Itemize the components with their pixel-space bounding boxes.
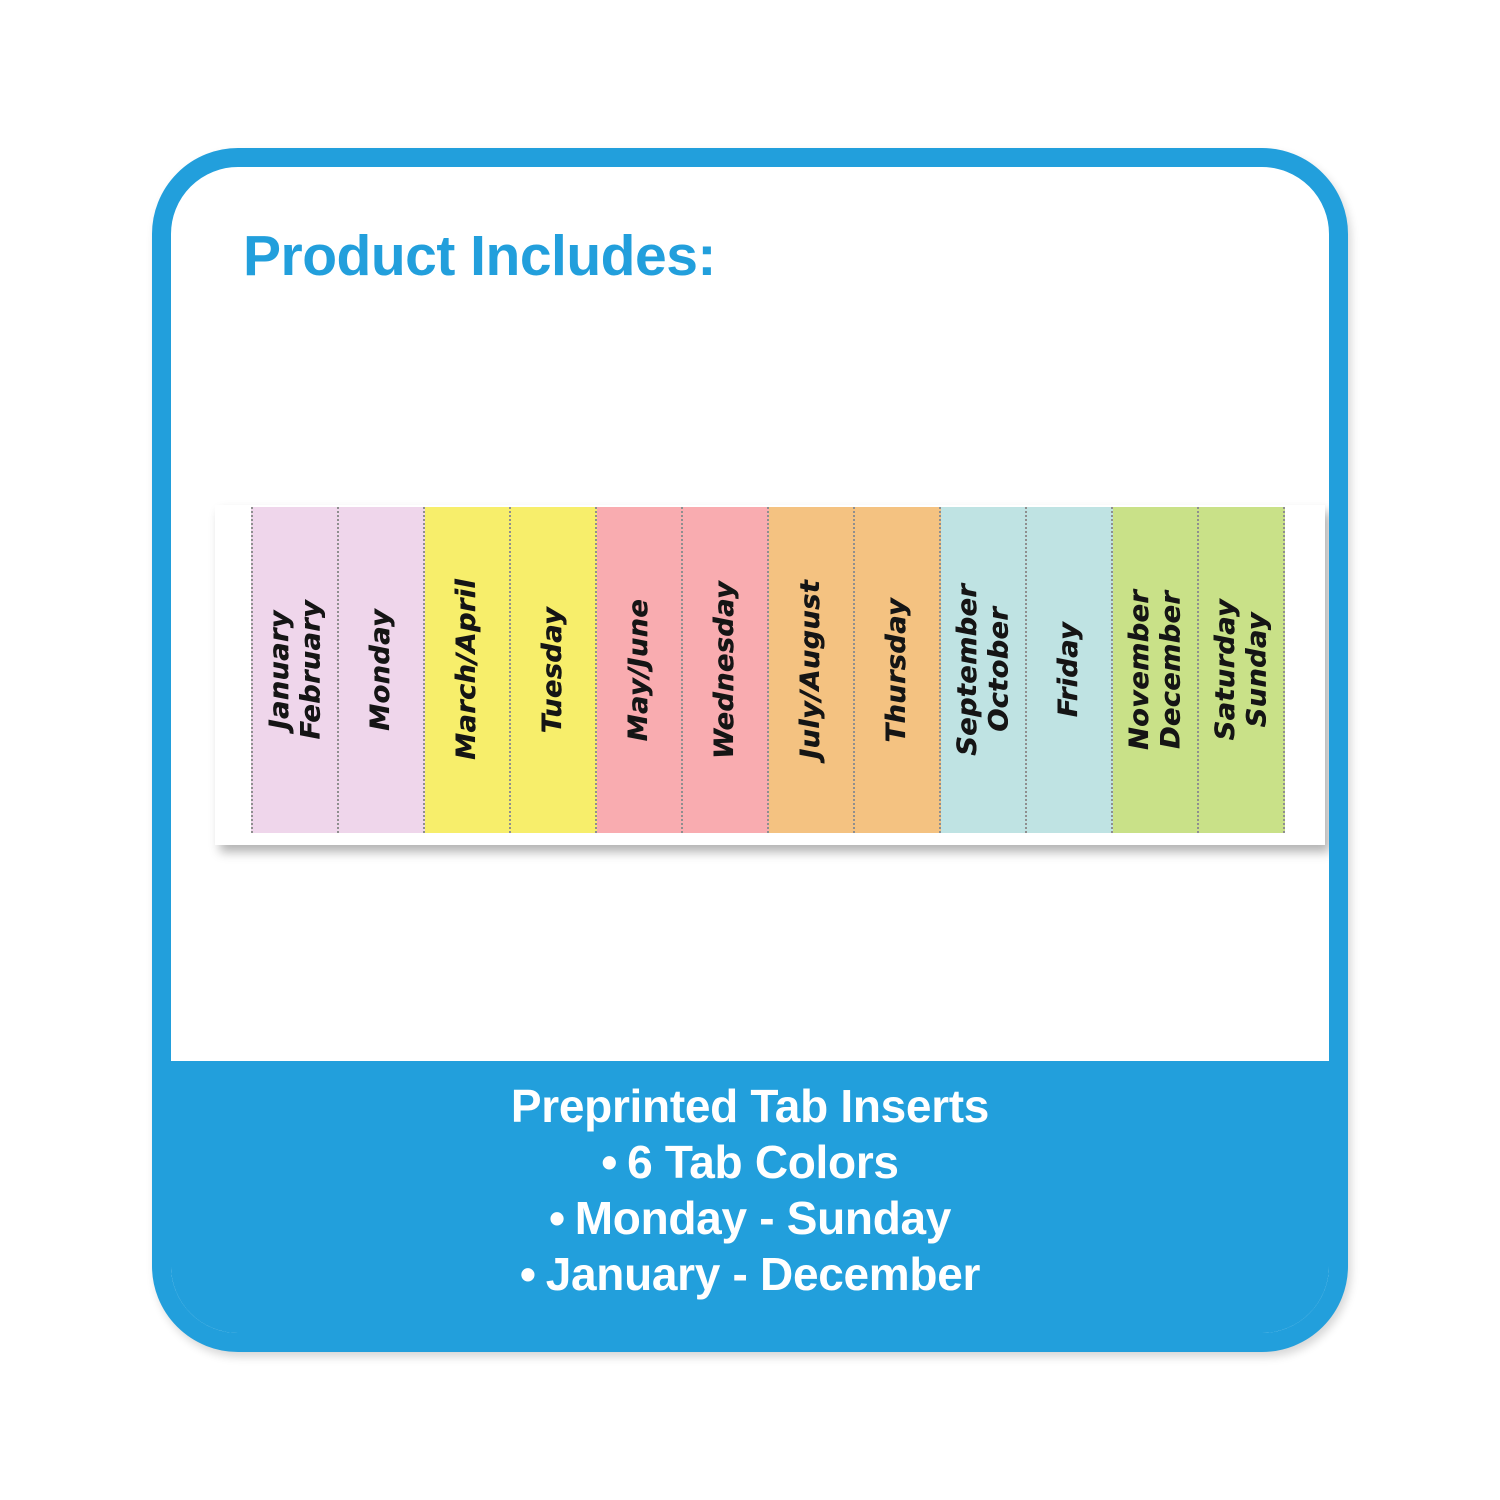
tab-may-june: May/June [597,507,683,833]
tab-monday: Monday [339,507,425,833]
footer-bullet-item: •Monday - Sunday [520,1190,980,1246]
tab-label: Wednesday [709,581,740,759]
tab-tuesday: Tuesday [511,507,597,833]
page-title: Product Includes: [243,223,716,289]
footer-feature-panel: Preprinted Tab Inserts •6 Tab Colors •Mo… [171,1061,1329,1333]
strip-right-margin [1285,507,1325,833]
tab-september-october: September October [941,507,1027,833]
tab-wednesday: Wednesday [683,507,769,833]
tab-label: July/August [795,580,826,759]
tab-label: May/June [623,599,654,742]
footer-bullet-item: •January - December [520,1246,980,1302]
bullet-dot-icon: • [549,1190,565,1246]
tab-label: November December [1124,590,1187,750]
tab-thursday: Thursday [855,507,941,833]
footer-bullet-label: January - December [546,1248,980,1300]
screenshot-canvas: Product Includes: January February Monda… [0,0,1500,1500]
footer-bullet-label: 6 Tab Colors [627,1136,899,1188]
tab-saturday-sunday: Saturday Sunday [1199,507,1285,833]
tab-insert-row: January February Monday March/April Tues… [215,507,1325,833]
tab-friday: Friday [1027,507,1113,833]
footer-bullet-item: •6 Tab Colors [520,1134,980,1190]
strip-left-margin [215,507,251,833]
tab-label: January February [264,600,327,740]
bullet-dot-icon: • [601,1134,617,1190]
tab-label: Monday [365,609,396,731]
tab-november-december: November December [1113,507,1199,833]
tab-label: Tuesday [537,607,568,733]
footer-bullet-list: •6 Tab Colors •Monday - Sunday •January … [520,1134,980,1302]
tab-label: Thursday [881,598,912,743]
tab-label: March/April [451,579,482,760]
tab-label: September October [952,584,1015,756]
footer-heading: Preprinted Tab Inserts [511,1079,989,1134]
tab-label: Saturday Sunday [1210,599,1273,740]
footer-bullet-label: Monday - Sunday [575,1192,951,1244]
tab-january-february: January February [251,507,339,833]
tab-insert-strip: January February Monday March/April Tues… [215,505,1325,845]
tab-july-august: July/August [769,507,855,833]
product-includes-card: Product Includes: January February Monda… [152,148,1348,1352]
tab-label: Friday [1053,622,1084,717]
bullet-dot-icon: • [520,1246,536,1302]
tab-march-april: March/April [425,507,511,833]
